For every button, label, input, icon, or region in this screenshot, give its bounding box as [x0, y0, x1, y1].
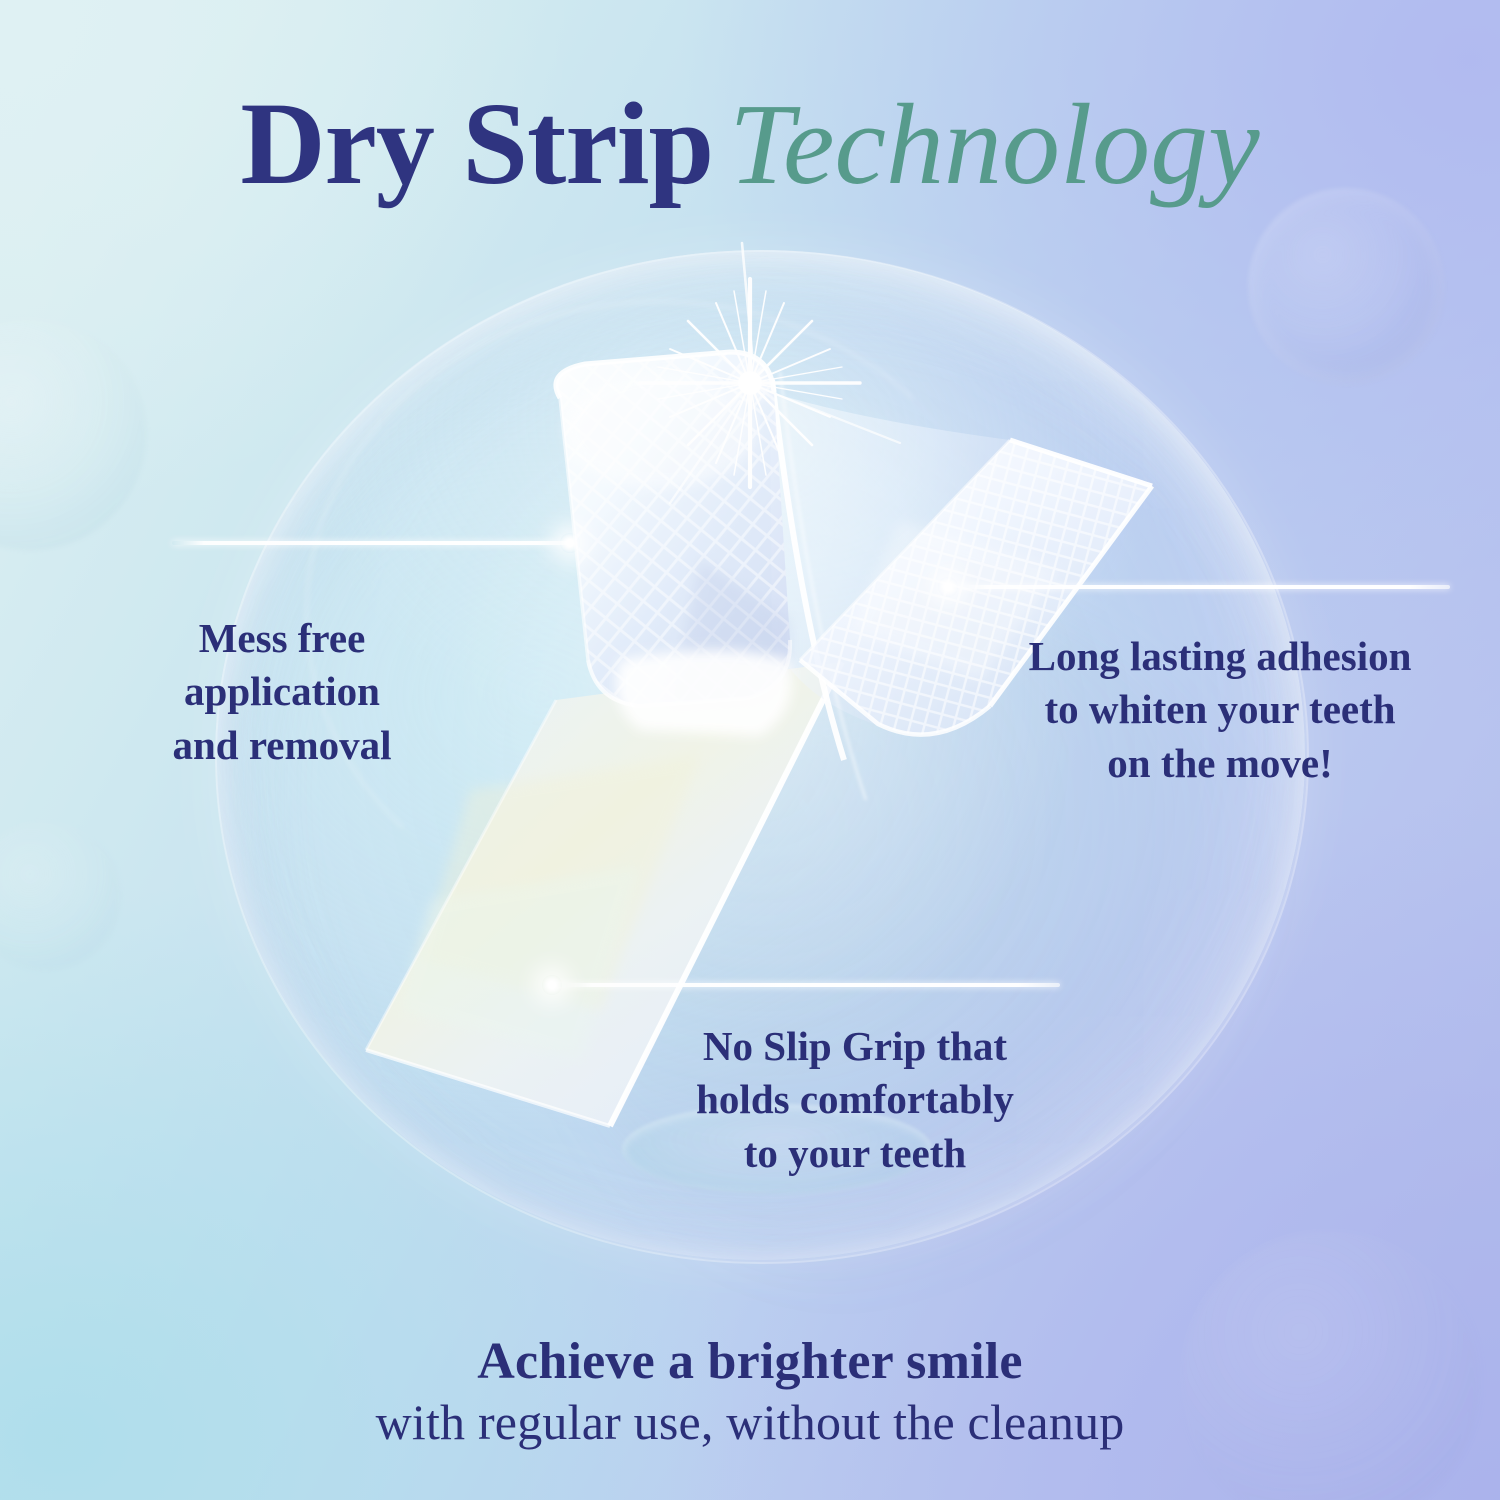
background-bubble-top-right — [1248, 188, 1444, 384]
callout-dot-no-slip-grip — [542, 975, 562, 995]
callout-text-mess-free: Mess free application and removal — [62, 612, 502, 772]
title-accent-text: Technology — [729, 81, 1260, 209]
callout-dot-long-lasting — [938, 577, 958, 597]
callout-text-long-lasting: Long lasting adhesion to whiten your tee… — [955, 630, 1485, 790]
callout-dot-mess-free — [560, 533, 580, 553]
page-title: Dry StripTechnology — [0, 84, 1500, 204]
title-main-text: Dry Strip — [240, 78, 713, 209]
footer-tagline: Achieve a brighter smile with regular us… — [0, 1332, 1500, 1453]
infographic-canvas: Dry StripTechnology Mess free applicatio… — [0, 0, 1500, 1500]
footer-subline: with regular use, without the cleanup — [0, 1392, 1500, 1453]
callout-line-no-slip-grip — [552, 983, 1060, 987]
background-bubble-lower-left — [0, 820, 120, 970]
callout-line-long-lasting — [948, 585, 1450, 589]
footer-headline: Achieve a brighter smile — [0, 1332, 1500, 1392]
background-bubble-left — [0, 318, 146, 550]
callout-line-mess-free — [172, 541, 570, 545]
callout-text-no-slip-grip: No Slip Grip that holds comfortably to y… — [620, 1020, 1090, 1180]
